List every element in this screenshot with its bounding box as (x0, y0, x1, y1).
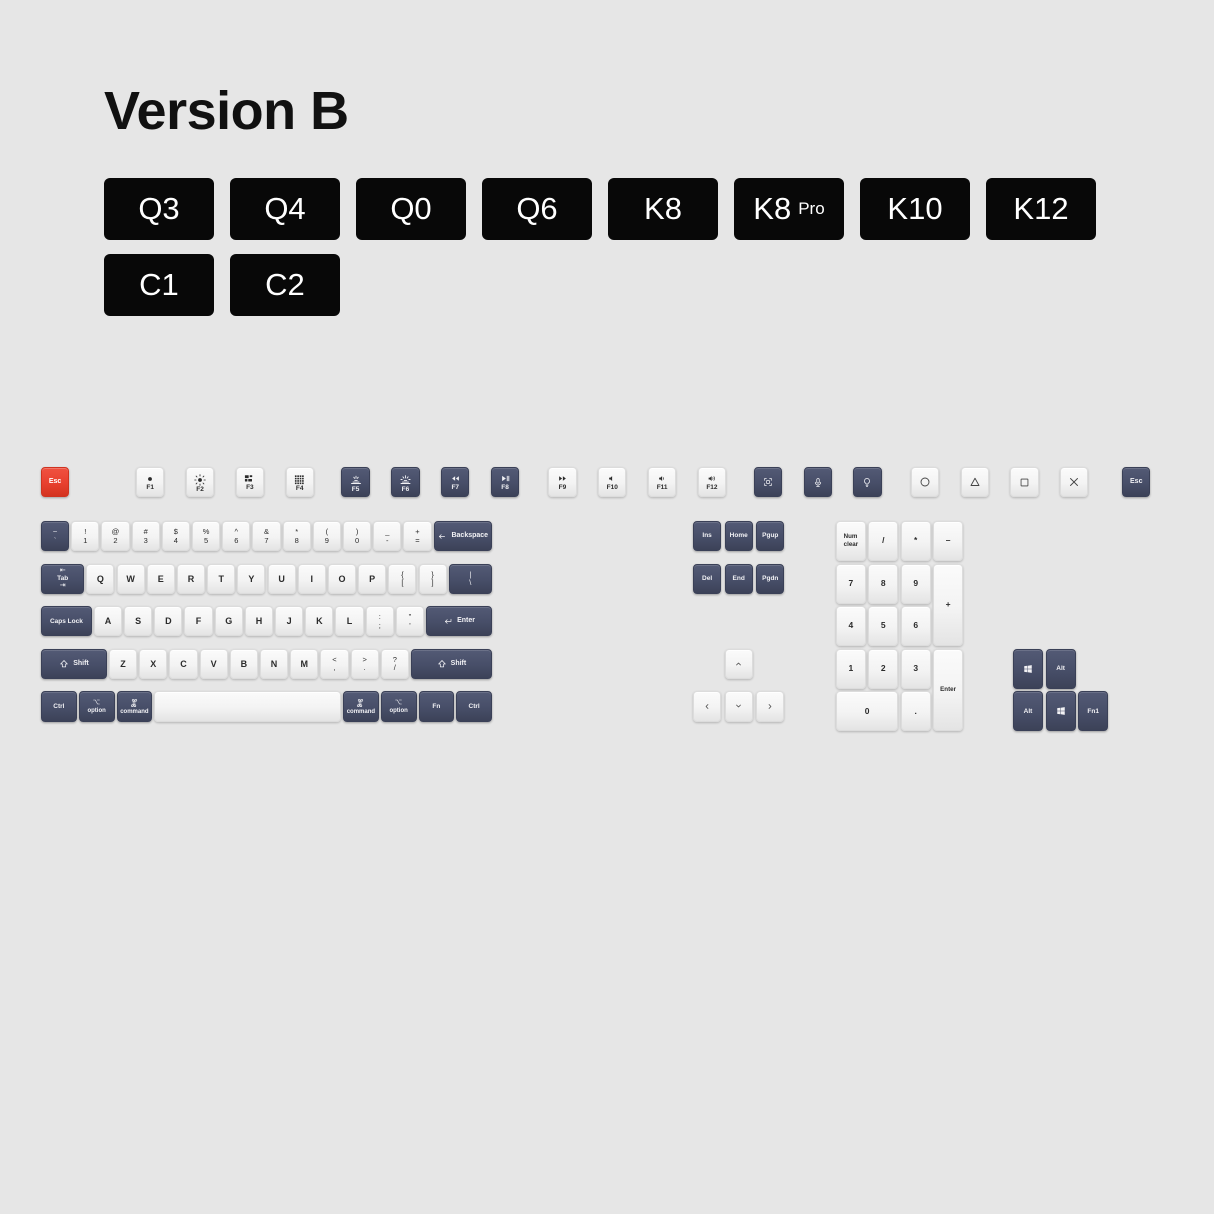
key-label: U (278, 574, 285, 584)
key-backspace[interactable]: Backspace (434, 521, 492, 551)
key-del[interactable]: Del (693, 564, 721, 594)
key-numpad-1[interactable]: 1 (836, 649, 866, 689)
key-label: Alt (1024, 708, 1033, 715)
key-label: F2 (196, 486, 204, 493)
key-alt-top[interactable]: Alt (1046, 649, 1076, 689)
key-label: Enter (940, 686, 956, 694)
key-numpad-4[interactable]: 4 (836, 606, 866, 646)
key-legend-bottom: , (333, 664, 335, 673)
key-legend-bottom: 7 (264, 537, 268, 546)
key-label: 7 (849, 579, 854, 589)
key-numpad-enter[interactable]: Enter (933, 649, 963, 732)
screenshot-icon (763, 477, 773, 487)
key-legend-bottom: 9 (325, 537, 329, 546)
key-label: B (241, 659, 248, 669)
key-numpad-0[interactable]: 0 (836, 691, 898, 731)
arrow-left-icon (437, 532, 447, 541)
key-label: Shift (73, 660, 89, 668)
key-bracket-right[interactable]: }] (419, 564, 447, 594)
launchpad-icon (294, 474, 305, 485)
key-f9[interactable]: F9 (548, 467, 576, 497)
key-label: 1 (849, 664, 854, 674)
key-option-left[interactable]: option (79, 691, 115, 721)
key-h[interactable]: H (245, 606, 273, 636)
key-legend-bottom: - (386, 537, 389, 546)
shift-up-icon (437, 659, 447, 669)
key-label: Caps Lock (50, 618, 83, 625)
key-esc-dark[interactable]: Esc (1122, 467, 1150, 497)
key-label: Enter (457, 617, 475, 625)
key-label: + (946, 600, 951, 610)
key-numpad-7[interactable]: 7 (836, 564, 866, 604)
key-label: Ctrl (53, 703, 64, 710)
command-icon (130, 698, 139, 707)
key-label: W (126, 574, 135, 584)
key-equals[interactable]: += (403, 521, 431, 551)
key-pgdn[interactable]: Pgdn (756, 564, 784, 594)
option-icon (394, 698, 403, 706)
key-fn[interactable]: Fn (419, 691, 455, 721)
key-semicolon[interactable]: :; (366, 606, 394, 636)
key-w[interactable]: W (117, 564, 145, 594)
key-label: – (946, 536, 951, 546)
key-d[interactable]: D (154, 606, 182, 636)
rewind-icon (450, 474, 461, 483)
key-bracket-left[interactable]: {[ (388, 564, 416, 594)
key-4[interactable]: $4 (162, 521, 190, 551)
key-f8[interactable]: F8 (491, 467, 519, 497)
key-win-bottom[interactable] (1046, 691, 1076, 731)
command-icon (356, 698, 365, 707)
key-f11[interactable]: F11 (648, 467, 676, 497)
key-home[interactable]: Home (725, 521, 753, 551)
key-q[interactable]: Q (86, 564, 114, 594)
key-numpad-9[interactable]: 9 (901, 564, 931, 604)
key-cross[interactable] (1060, 467, 1088, 497)
key-x[interactable]: X (139, 649, 167, 679)
key-m[interactable]: M (290, 649, 318, 679)
key-label: K (316, 616, 323, 626)
key-label: command (120, 709, 148, 716)
key-label: Tab (57, 575, 68, 582)
key-slash[interactable]: ?/ (381, 649, 409, 679)
key-label: L (347, 616, 353, 626)
key-tilde[interactable]: ~` (41, 521, 69, 551)
key-numpad-3[interactable]: 3 (901, 649, 931, 689)
key-ctrl-left[interactable]: Ctrl (41, 691, 77, 721)
key-label: 0 (865, 707, 870, 717)
key-esc[interactable]: Esc (41, 467, 69, 497)
key-arrow-left[interactable] (693, 691, 721, 721)
key-legend-bottom: ` (54, 537, 57, 546)
key-label: F6 (402, 486, 410, 493)
key-label: F11 (657, 484, 668, 491)
key-legend-bottom: ] (432, 579, 434, 588)
brightness-up-icon (194, 474, 206, 486)
key-label: J (287, 616, 292, 626)
key-1[interactable]: !1 (71, 521, 99, 551)
key-9[interactable]: (9 (313, 521, 341, 551)
key-label: X (150, 659, 156, 669)
key-legend-bottom: / (394, 664, 396, 673)
key-label: 8 (881, 579, 886, 589)
enter-arrow-icon (443, 617, 453, 626)
windows-icon (1023, 664, 1033, 674)
key-label: Fn1 (1087, 708, 1099, 715)
key-label: * (914, 536, 917, 546)
key-label: 9 (913, 579, 918, 589)
key-f2[interactable]: F2 (186, 467, 214, 497)
key-label: I (311, 574, 314, 584)
lightbulb-icon (862, 477, 872, 488)
key-minus[interactable]: _- (373, 521, 401, 551)
key-3[interactable]: #3 (132, 521, 160, 551)
key-label: N (271, 659, 278, 669)
chevron-down-icon (734, 702, 743, 710)
key-label: Esc (1130, 478, 1142, 486)
key-k[interactable]: K (305, 606, 333, 636)
key-e[interactable]: E (147, 564, 175, 594)
key-y[interactable]: Y (237, 564, 265, 594)
key-shift-left[interactable]: Shift (41, 649, 107, 679)
key-numpad-multiply[interactable]: * (901, 521, 931, 561)
key-label: T (218, 574, 224, 584)
key-label: Esc (49, 478, 61, 486)
key-backslash[interactable]: |\ (449, 564, 492, 594)
key-f1[interactable]: F1 (136, 467, 164, 497)
key-label: H (256, 616, 263, 626)
key-label: R (188, 574, 195, 584)
key-label: Pgdn (762, 575, 778, 582)
key-label: F9 (559, 484, 567, 491)
key-label: command (347, 709, 375, 716)
key-p[interactable]: P (358, 564, 386, 594)
key-screenshot[interactable] (754, 467, 782, 497)
cross-icon (1068, 476, 1080, 488)
key-label: P (369, 574, 375, 584)
key-space[interactable] (154, 691, 341, 721)
key-tab[interactable]: ⇤Tab⇥ (41, 564, 84, 594)
key-ins[interactable]: Ins (693, 521, 721, 551)
key-period[interactable]: >. (351, 649, 379, 679)
key-label: G (225, 616, 232, 626)
key-b[interactable]: B (230, 649, 258, 679)
key-label: 6 (913, 621, 918, 631)
key-5[interactable]: %5 (192, 521, 220, 551)
key-label: F7 (451, 484, 459, 491)
backlight-up-icon (399, 474, 412, 486)
key-label: Q (97, 574, 104, 584)
key-a[interactable]: A (94, 606, 122, 636)
key-label: A (105, 616, 112, 626)
key-fn1[interactable]: Fn1 (1078, 691, 1108, 731)
key-label: M (300, 659, 308, 669)
key-label: Home (730, 532, 748, 539)
key-label: Pgup (762, 532, 778, 539)
key-label: Ctrl (469, 703, 480, 710)
key-2[interactable]: @2 (101, 521, 129, 551)
key-label: F10 (607, 484, 618, 491)
key-s[interactable]: S (124, 606, 152, 636)
key-quote[interactable]: "' (396, 606, 424, 636)
key-g[interactable]: G (215, 606, 243, 636)
key-legend-bottom: 4 (174, 537, 178, 546)
keycap-set-layout: EscF1F2F3F4F5F6F7F8F9F10F11F12Esc~`!1@2#… (0, 0, 1214, 1214)
key-numpad-minus[interactable]: – (933, 521, 963, 561)
key-f3[interactable]: F3 (236, 467, 264, 497)
key-v[interactable]: V (200, 649, 228, 679)
chevron-right-icon (766, 702, 774, 711)
key-i[interactable]: I (298, 564, 326, 594)
key-legend-bottom: ; (379, 622, 381, 631)
play-pause-icon (500, 474, 511, 483)
key-label: F (196, 616, 202, 626)
key-ctrl-right[interactable]: Ctrl (456, 691, 492, 721)
key-microphone[interactable] (804, 467, 832, 497)
chevron-left-icon (703, 702, 711, 711)
key-z[interactable]: Z (109, 649, 137, 679)
key-u[interactable]: U (268, 564, 296, 594)
key-label: Backspace (451, 532, 488, 540)
key-caps-lock[interactable]: Caps Lock (41, 606, 92, 636)
key-label: . (915, 707, 917, 717)
key-legend-bottom: 6 (234, 537, 238, 546)
key-label: Fn (432, 703, 440, 710)
key-label: Z (120, 659, 126, 669)
key-numpad-divide[interactable]: / (868, 521, 898, 561)
key-circle[interactable] (911, 467, 939, 497)
key-f6[interactable]: F6 (391, 467, 419, 497)
key-square[interactable] (1010, 467, 1038, 497)
key-l[interactable]: L (335, 606, 363, 636)
key-numpad-2[interactable]: 2 (868, 649, 898, 689)
key-label: Ins (702, 532, 711, 539)
key-end[interactable]: End (725, 564, 753, 594)
key-label: Del (702, 575, 712, 582)
tab-arrow-left-icon: ⇤ (60, 567, 66, 575)
key-f5[interactable]: F5 (341, 467, 369, 497)
key-label: Alt (1056, 665, 1065, 672)
key-lightbulb[interactable] (853, 467, 881, 497)
key-t[interactable]: T (207, 564, 235, 594)
tab-arrow-right-icon: ⇥ (60, 582, 66, 590)
key-command-right[interactable]: command (343, 691, 379, 721)
key-command-left[interactable]: command (117, 691, 153, 721)
key-label: End (733, 575, 745, 582)
key-legend-bottom: 5 (204, 537, 208, 546)
key-numpad-5[interactable]: 5 (868, 606, 898, 646)
windows-icon (1056, 706, 1066, 716)
key-legend-bottom: . (364, 664, 366, 673)
backlight-down-icon (350, 474, 362, 486)
option-icon (92, 698, 101, 706)
key-legend-bottom: \ (469, 579, 471, 588)
key-legend-bottom: 0 (355, 537, 359, 546)
key-label: F1 (146, 484, 154, 491)
key-legend-bottom: 8 (295, 537, 299, 546)
key-label: F5 (352, 486, 360, 493)
key-shift-right[interactable]: Shift (411, 649, 492, 679)
key-f10[interactable]: F10 (598, 467, 626, 497)
key-legend-bottom: = (415, 537, 419, 546)
triangle-icon (969, 476, 981, 488)
key-arrow-down[interactable] (725, 691, 753, 721)
key-label: C (180, 659, 187, 669)
fast-forward-icon (557, 474, 568, 483)
key-f[interactable]: F (184, 606, 212, 636)
key-o[interactable]: O (328, 564, 356, 594)
key-numpad-period[interactable]: . (901, 691, 931, 731)
key-label: 4 (849, 621, 854, 631)
key-label: O (338, 574, 345, 584)
key-label: S (135, 616, 141, 626)
key-pgup[interactable]: Pgup (756, 521, 784, 551)
key-f7[interactable]: F7 (441, 467, 469, 497)
key-triangle[interactable] (961, 467, 989, 497)
key-label: Numclear (844, 533, 858, 549)
key-label: / (882, 536, 884, 546)
volume-up-icon (706, 474, 718, 483)
key-6[interactable]: ^6 (222, 521, 250, 551)
key-label: F12 (706, 484, 717, 491)
key-f12[interactable]: F12 (698, 467, 726, 497)
key-option-right[interactable]: option (381, 691, 417, 721)
key-8[interactable]: *8 (283, 521, 311, 551)
key-label: Y (248, 574, 254, 584)
key-numpad-6[interactable]: 6 (901, 606, 931, 646)
key-n[interactable]: N (260, 649, 288, 679)
key-label: 3 (913, 664, 918, 674)
key-label: option (389, 708, 407, 715)
key-num-clear[interactable]: Numclear (836, 521, 866, 561)
key-arrow-up[interactable] (725, 649, 753, 679)
key-comma[interactable]: <, (320, 649, 348, 679)
key-legend-bottom: ' (409, 622, 410, 631)
circle-icon (919, 476, 931, 488)
key-c[interactable]: C (169, 649, 197, 679)
shift-up-icon (59, 659, 69, 669)
key-legend-bottom: 2 (113, 537, 117, 546)
volume-down-icon (657, 474, 668, 483)
key-legend-bottom: 3 (144, 537, 148, 546)
key-label: D (165, 616, 172, 626)
key-legend-bottom: 1 (83, 537, 87, 546)
key-0[interactable]: )0 (343, 521, 371, 551)
key-label: F4 (296, 485, 304, 492)
key-label: E (158, 574, 164, 584)
key-label: 5 (881, 621, 886, 631)
key-r[interactable]: R (177, 564, 205, 594)
key-label: V (211, 659, 217, 669)
key-label: 2 (881, 664, 886, 674)
key-f4[interactable]: F4 (286, 467, 314, 497)
key-numpad-8[interactable]: 8 (868, 564, 898, 604)
key-alt-bottom[interactable]: Alt (1013, 691, 1043, 731)
key-legend-bottom: [ (401, 579, 403, 588)
brightness-down-icon (145, 474, 155, 484)
mission-control-icon (244, 474, 255, 484)
microphone-icon (813, 477, 823, 488)
key-win-top[interactable] (1013, 649, 1043, 689)
key-arrow-right[interactable] (756, 691, 784, 721)
key-label: F3 (246, 484, 254, 491)
square-icon (1019, 477, 1030, 488)
mute-icon (608, 474, 617, 483)
key-7[interactable]: &7 (252, 521, 280, 551)
key-label: option (87, 708, 105, 715)
key-numpad-plus[interactable]: + (933, 564, 963, 647)
key-label: Shift (451, 660, 467, 668)
chevron-up-icon (734, 660, 743, 668)
key-label: F8 (501, 484, 509, 491)
key-enter[interactable]: Enter (426, 606, 492, 636)
key-j[interactable]: J (275, 606, 303, 636)
